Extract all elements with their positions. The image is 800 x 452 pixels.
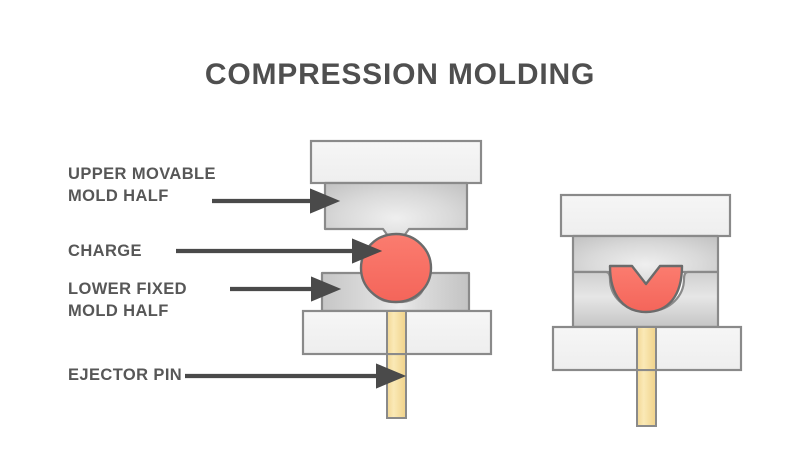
label-upper-movable-mold-half: UPPER MOVABLE MOLD HALF	[68, 163, 216, 207]
label-charge: CHARGE	[68, 240, 142, 262]
label-upper-line-2: MOLD HALF	[68, 185, 216, 207]
label-lower-line-1: LOWER FIXED	[68, 278, 187, 300]
label-lower-fixed-mold-half: LOWER FIXED MOLD HALF	[68, 278, 187, 322]
upper-mold-backing-plate-closed	[561, 195, 730, 236]
label-lower-line-2: MOLD HALF	[68, 300, 187, 322]
label-ejector-pin: EJECTOR PIN	[68, 364, 182, 386]
diagram-canvas: COMPRESSION MOLDING	[0, 0, 800, 452]
closed-mold-stage	[553, 195, 741, 426]
charge	[361, 234, 431, 302]
upper-mold-backing-plate	[311, 141, 481, 183]
label-charge-line-1: CHARGE	[68, 240, 142, 262]
ejector-pin-through-base	[387, 311, 406, 354]
label-ejector-line-1: EJECTOR PIN	[68, 364, 182, 386]
label-upper-line-1: UPPER MOVABLE	[68, 163, 216, 185]
ejector-pin-through-base-closed	[637, 327, 656, 370]
